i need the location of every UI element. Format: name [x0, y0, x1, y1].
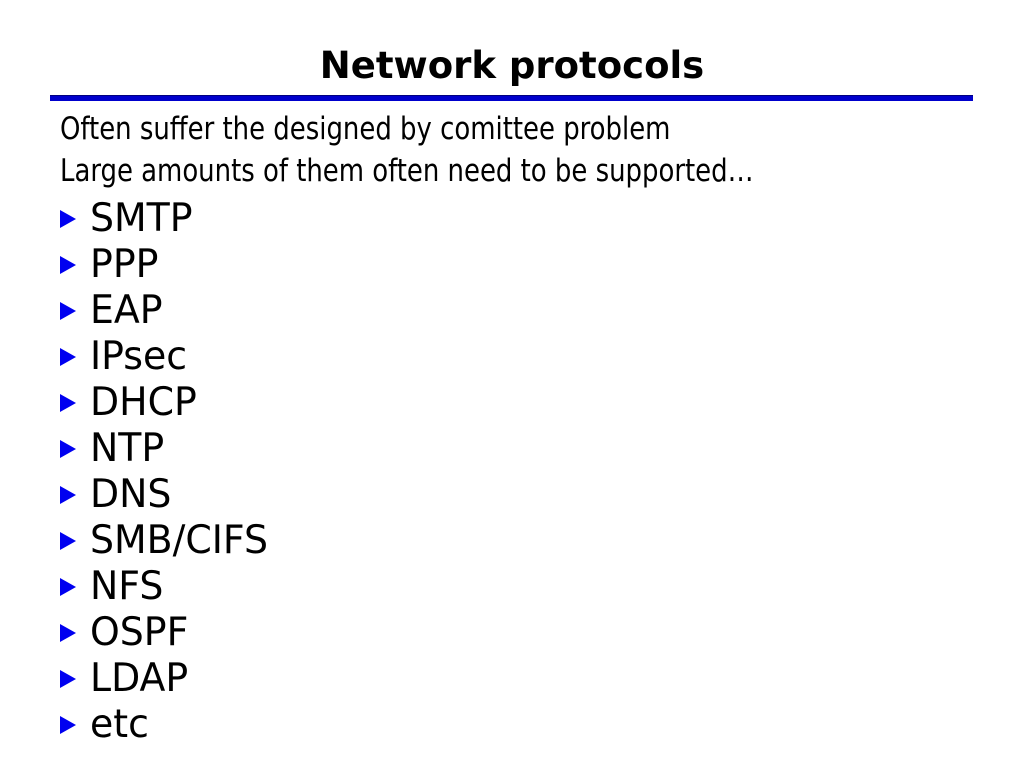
- triangle-bullet-icon: [60, 440, 76, 458]
- list-item: DHCP: [60, 380, 1004, 426]
- title-divider-rule: [50, 95, 973, 101]
- list-item-label: etc: [90, 702, 149, 748]
- list-item-label: OSPF: [90, 610, 188, 656]
- page-title: Network protocols: [0, 44, 1024, 88]
- title-block: Network protocols: [0, 44, 1024, 88]
- list-item-label: PPP: [90, 242, 158, 288]
- triangle-bullet-icon: [60, 578, 76, 596]
- list-item: etc: [60, 702, 1004, 748]
- slide-canvas: Network protocols Often suffer the desig…: [0, 0, 1024, 768]
- list-item-label: EAP: [90, 288, 163, 334]
- list-item-label: DHCP: [90, 380, 197, 426]
- list-item: LDAP: [60, 656, 1004, 702]
- triangle-bullet-icon: [60, 394, 76, 412]
- list-item: DNS: [60, 472, 1004, 518]
- triangle-bullet-icon: [60, 716, 76, 734]
- list-item-label: IPsec: [90, 334, 187, 380]
- triangle-bullet-icon: [60, 670, 76, 688]
- list-item: IPsec: [60, 334, 1004, 380]
- list-item-label: NFS: [90, 564, 163, 610]
- slide-body: Often suffer the designed by comittee pr…: [60, 108, 1004, 748]
- intro-line-1: Often suffer the designed by comittee pr…: [60, 108, 938, 150]
- list-item: NFS: [60, 564, 1004, 610]
- list-item-label: DNS: [90, 472, 171, 518]
- triangle-bullet-icon: [60, 348, 76, 366]
- triangle-bullet-icon: [60, 302, 76, 320]
- triangle-bullet-icon: [60, 532, 76, 550]
- list-item-label: LDAP: [90, 656, 188, 702]
- protocol-bullet-list: SMTP PPP EAP IPsec DHCP NTP: [60, 196, 1004, 748]
- intro-line-2: Large amounts of them often need to be s…: [60, 150, 938, 192]
- triangle-bullet-icon: [60, 486, 76, 504]
- list-item: SMTP: [60, 196, 1004, 242]
- list-item: OSPF: [60, 610, 1004, 656]
- list-item: PPP: [60, 242, 1004, 288]
- triangle-bullet-icon: [60, 210, 76, 228]
- triangle-bullet-icon: [60, 624, 76, 642]
- list-item: NTP: [60, 426, 1004, 472]
- list-item-label: NTP: [90, 426, 164, 472]
- list-item-label: SMB/CIFS: [90, 518, 268, 564]
- list-item: SMB/CIFS: [60, 518, 1004, 564]
- list-item: EAP: [60, 288, 1004, 334]
- triangle-bullet-icon: [60, 256, 76, 274]
- list-item-label: SMTP: [90, 196, 193, 242]
